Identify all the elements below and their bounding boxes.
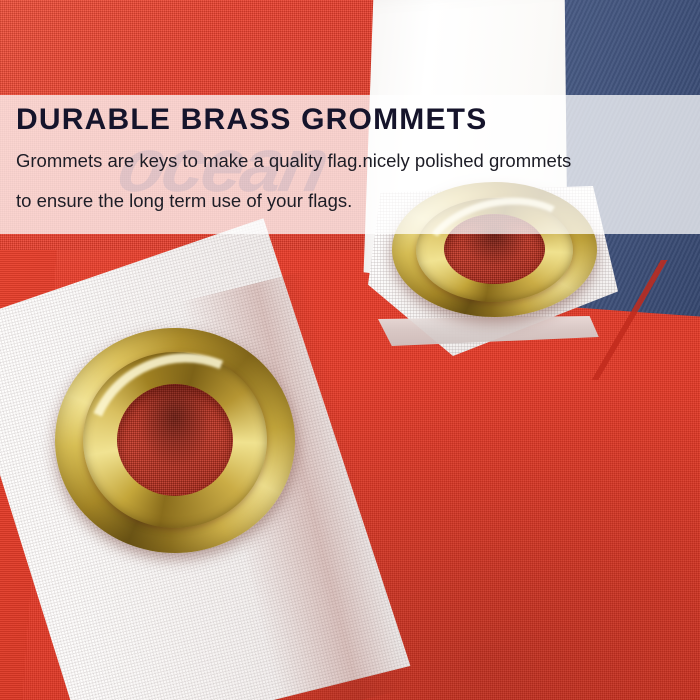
product-promo-image: ocean DURABLE BRASS GROMMETS Grommets ar… xyxy=(0,0,700,700)
promo-body-line-1: Grommets are keys to make a quality flag… xyxy=(16,144,686,177)
grommet-lower-left xyxy=(55,328,295,553)
promo-body-line-2: to ensure the long term use of your flag… xyxy=(16,184,686,217)
promo-text-block: DURABLE BRASS GROMMETS Grommets are keys… xyxy=(0,95,700,234)
promo-headline: DURABLE BRASS GROMMETS xyxy=(16,103,686,137)
grommet-hole-fabric xyxy=(117,384,233,496)
